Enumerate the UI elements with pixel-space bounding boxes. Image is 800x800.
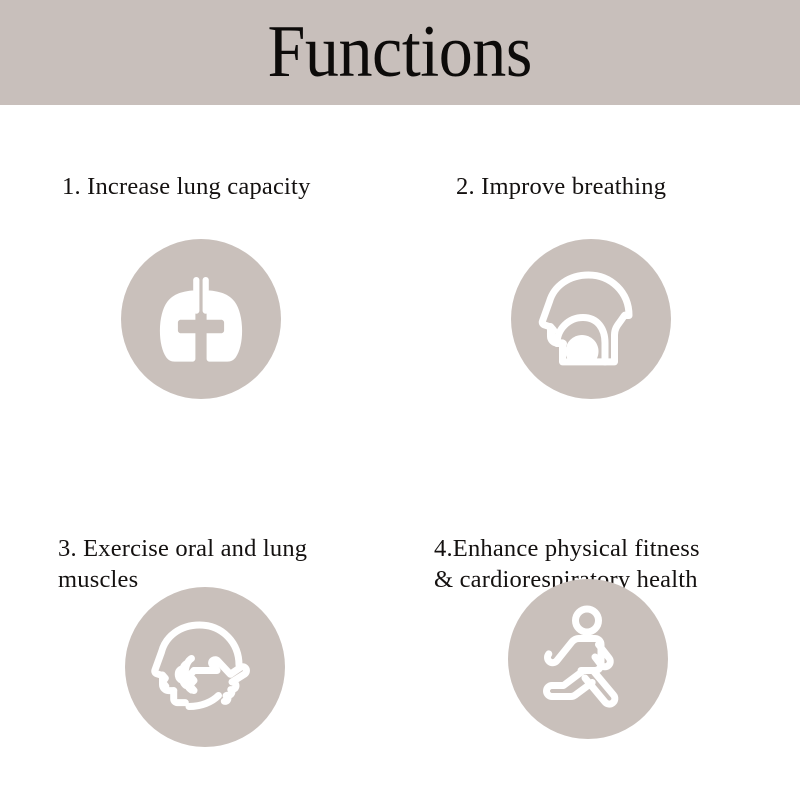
page-title: Functions [268,15,532,89]
function-item-2: 2. Improve breathing [400,105,800,473]
function-item-3: 3. Exercise oral and lung muscles [0,473,400,800]
function-item-1-icon-circle [121,239,281,399]
walking-person-icon [533,604,643,714]
function-item-1-label: 1. Increase lung capacity [62,105,400,202]
function-item-2-icon-circle [511,239,671,399]
function-item-1: 1. Increase lung capacity [0,105,400,473]
function-item-3-icon-circle [125,587,285,747]
head-breathing-icon [535,263,647,375]
header-band: Functions [0,0,800,105]
function-item-4: 4.Enhance physical fitness & cardiorespi… [400,473,800,800]
head-speech-hand-icon [147,609,263,725]
functions-grid: 1. Increase lung capacity 2. Impr [0,105,800,800]
function-item-3-label: 3. Exercise oral and lung muscles [58,473,400,596]
function-item-4-icon-circle [508,579,668,739]
function-item-4-label: 4.Enhance physical fitness & cardiorespi… [434,473,800,596]
function-item-2-label: 2. Improve breathing [456,105,800,202]
lungs-icon [149,267,253,371]
infographic-page: Functions 1. Increase lung capacity [0,0,800,800]
